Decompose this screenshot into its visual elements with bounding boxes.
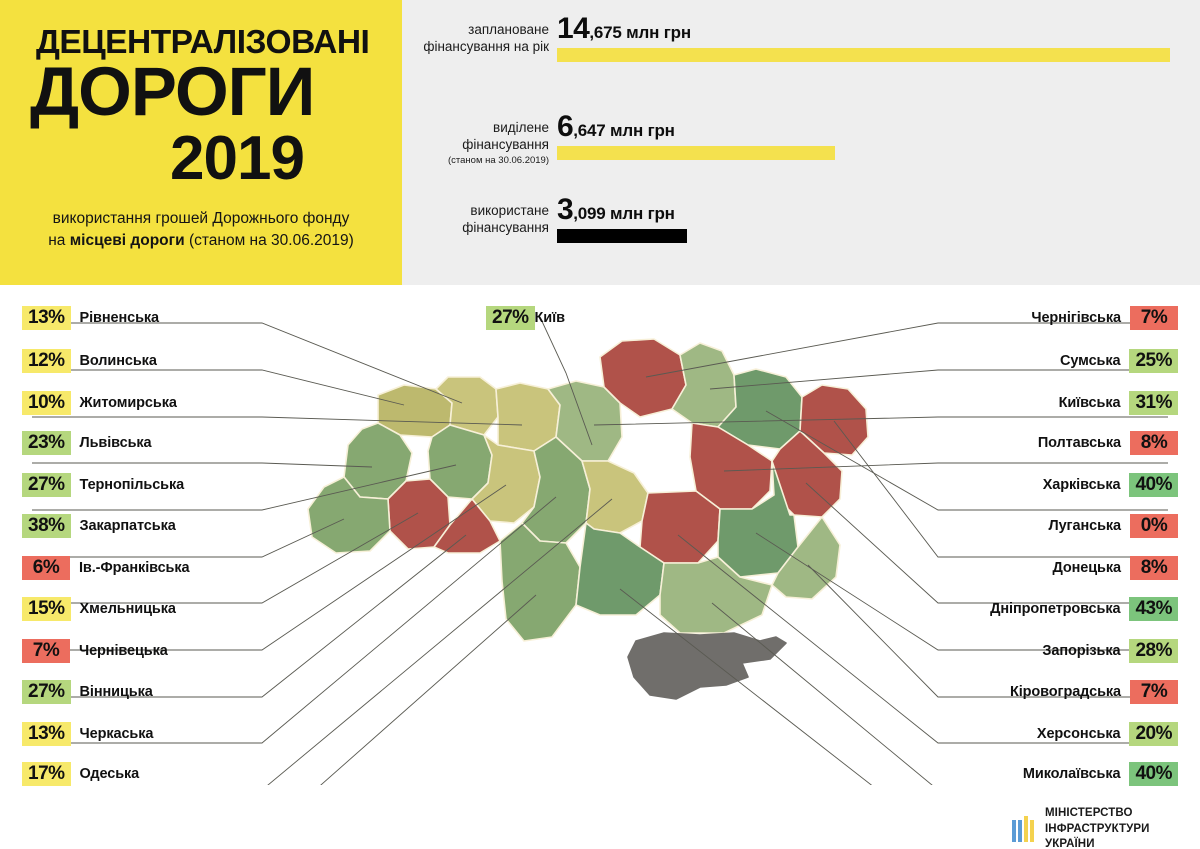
bar-rect-allocated: [557, 146, 835, 160]
title-panel: ДЕЦЕНТРАЛІЗОВАНІ ДОРОГИ 2019 використанн…: [0, 0, 402, 285]
subtitle-prefix: на: [48, 232, 70, 249]
region-label-left[interactable]: 7% Чернівецька: [22, 639, 168, 663]
region-percent-badge: 8%: [1130, 556, 1178, 580]
region-name: Херсонська: [1037, 726, 1121, 742]
logo-bar-3: [1024, 816, 1028, 842]
bar-group-used: використане фінансування 3,099 млн грн: [402, 190, 1200, 285]
bar-group-planned: заплановане фінансування на рік 14,675 м…: [402, 0, 1200, 95]
logo-bar-4: [1030, 820, 1034, 842]
bar-label-used-line2: фінансування: [462, 220, 549, 235]
logo-bar-1: [1012, 820, 1016, 842]
region-label-left[interactable]: 17% Одеська: [22, 762, 139, 786]
region-name: Київ: [535, 310, 565, 326]
region-name: Донецька: [1052, 560, 1121, 576]
bar-label-allocated-line2: фінансування: [462, 137, 549, 152]
ministry-logo-text: МІНІСТЕРСТВО ІНФРАСТРУКТУРИ УКРАЇНИ: [1045, 806, 1200, 849]
subtitle-line-1: використання грошей Дорожнього фонду: [53, 210, 350, 227]
region-label-right[interactable]: 7% Кіровоградська: [1010, 680, 1178, 704]
region-label-left[interactable]: 13% Черкаська: [22, 722, 153, 746]
leader-line-kyivska-obl: [594, 417, 1168, 425]
region-name: Львівська: [80, 435, 152, 451]
bar-label-allocated-note: (станом на 30.06.2019): [448, 154, 549, 167]
bar-value-allocated: 6,647 млн грн: [557, 110, 675, 144]
header: ДЕЦЕНТРАЛІЗОВАНІ ДОРОГИ 2019 використанн…: [0, 0, 1200, 285]
region-name: Рівненська: [80, 310, 160, 326]
bar-rect-used: [557, 229, 687, 243]
region-label-right[interactable]: 28% Запорізька: [1042, 639, 1178, 663]
bar-rect-planned: [557, 48, 1170, 62]
region-percent-badge: 27%: [22, 473, 71, 497]
logo-bars-icon: [1012, 816, 1036, 842]
page-title-year: 2019: [170, 128, 304, 190]
region-name: Житомирська: [80, 395, 177, 411]
region-label-left[interactable]: 13% Рівненська: [22, 306, 159, 330]
region-percent-badge: 7%: [22, 639, 70, 663]
region-percent-badge: 12%: [22, 349, 71, 373]
region-label-right[interactable]: 43% Дніпропетровська: [990, 597, 1178, 621]
region-label-right[interactable]: 31% Київська: [1059, 391, 1178, 415]
region-crimea: [628, 633, 786, 699]
bar-label-allocated-line1: виділене: [493, 120, 549, 135]
bar-label-allocated: виділене фінансування (станом на 30.06.2…: [448, 120, 549, 167]
page-subtitle: використання грошей Дорожнього фонду на …: [0, 208, 402, 253]
region-label-right[interactable]: 0% Луганська: [1049, 514, 1179, 538]
bar-value-used: 3,099 млн грн: [557, 193, 675, 227]
bar-value-used-big: 3: [557, 193, 573, 226]
region-percent-badge: 0%: [1130, 514, 1178, 538]
logo-text-line-1: МІНІСТЕРСТВО: [1045, 806, 1200, 822]
region-name: Вінницька: [80, 684, 153, 700]
region-name: Тернопільська: [80, 477, 185, 493]
region-percent-badge: 43%: [1129, 597, 1178, 621]
region-cherkaska: [582, 461, 648, 533]
bar-group-allocated: виділене фінансування (станом на 30.06.2…: [402, 95, 1200, 190]
region-name: Хмельницька: [80, 601, 176, 617]
region-name: Сумська: [1060, 353, 1120, 369]
region-name: Кіровоградська: [1010, 684, 1121, 700]
region-percent-badge: 13%: [22, 306, 71, 330]
region-percent-badge: 40%: [1129, 762, 1178, 786]
region-name: Одеська: [80, 766, 140, 782]
region-label-right[interactable]: 8% Полтавська: [1038, 431, 1178, 455]
bar-value-allocated-rest: ,647 млн грн: [573, 121, 675, 140]
region-name: Ів.-Франківська: [79, 560, 190, 576]
region-percent-badge: 25%: [1129, 349, 1178, 373]
region-percent-badge: 13%: [22, 722, 71, 746]
bar-value-planned-big: 14: [557, 12, 589, 45]
region-percent-badge: 15%: [22, 597, 71, 621]
region-name: Київська: [1059, 395, 1121, 411]
region-percent-badge: 10%: [22, 391, 71, 415]
region-name: Чернівецька: [79, 643, 168, 659]
leader-line-zaporizka: [808, 565, 1168, 697]
region-name: Миколаївська: [1023, 766, 1121, 782]
region-label-left[interactable]: 23% Львівська: [22, 431, 152, 455]
region-label-left[interactable]: 38% Закарпатська: [22, 514, 176, 538]
region-label-right[interactable]: 40% Миколаївська: [1023, 762, 1178, 786]
region-percent-badge: 6%: [22, 556, 70, 580]
page-title-line-2: ДОРОГИ: [30, 57, 314, 126]
region-percent-badge: 8%: [1130, 431, 1178, 455]
region-label-left[interactable]: 12% Волинська: [22, 349, 157, 373]
region-percent-badge: 28%: [1129, 639, 1178, 663]
region-label-left[interactable]: 27% Тернопільська: [22, 473, 184, 497]
ministry-logo: МІНІСТЕРСТВО ІНФРАСТРУКТУРИ УКРАЇНИ: [1012, 806, 1200, 849]
region-name: Луганська: [1049, 518, 1122, 534]
region-name: Чернігівська: [1031, 310, 1121, 326]
region-percent-badge: 27%: [486, 306, 535, 330]
region-name: Полтавська: [1038, 435, 1121, 451]
region-label-right[interactable]: 8% Донецька: [1052, 556, 1178, 580]
region-name: Волинська: [80, 353, 157, 369]
leader-line-lvivska: [32, 463, 372, 467]
bar-label-planned: заплановане фінансування на рік: [423, 22, 549, 56]
region-name: Дніпропетровська: [990, 601, 1120, 617]
subtitle-suffix: (станом на 30.06.2019): [185, 232, 354, 249]
region-percent-badge: 17%: [22, 762, 71, 786]
region-percent-badge: 38%: [22, 514, 71, 538]
region-percent-badge: 27%: [22, 680, 71, 704]
funding-bar-chart: заплановане фінансування на рік 14,675 м…: [402, 0, 1200, 285]
bar-value-allocated-big: 6: [557, 110, 573, 143]
region-name: Запорізька: [1042, 643, 1120, 659]
region-percent-badge: 7%: [1130, 680, 1178, 704]
region-name: Черкаська: [80, 726, 154, 742]
bar-label-planned-line1: заплановане: [468, 22, 549, 37]
region-label-right[interactable]: 20% Херсонська: [1037, 722, 1178, 746]
bar-value-planned: 14,675 млн грн: [557, 12, 691, 46]
ukraine-map: [0, 285, 1200, 785]
region-label-left[interactable]: 27% Вінницька: [22, 680, 153, 704]
region-kirovohradska: [640, 491, 720, 563]
bar-value-planned-rest: ,675 млн грн: [589, 23, 691, 42]
bar-label-used: використане фінансування: [462, 203, 549, 237]
region-label-kyiv-city[interactable]: 27% Київ: [486, 306, 565, 330]
region-label-left[interactable]: 10% Житомирська: [22, 391, 177, 415]
leader-line-donetska: [806, 483, 1168, 603]
infographic-page: ДЕЦЕНТРАЛІЗОВАНІ ДОРОГИ 2019 використанн…: [0, 0, 1200, 849]
bar-label-used-line1: використане: [470, 203, 549, 218]
region-label-right[interactable]: 40% Харківська: [1043, 473, 1178, 497]
region-percent-badge: 40%: [1129, 473, 1178, 497]
region-label-left[interactable]: 15% Хмельницька: [22, 597, 176, 621]
subtitle-highlight: місцеві дороги: [70, 232, 185, 249]
region-label-right[interactable]: 7% Чернігівська: [1031, 306, 1178, 330]
logo-text-line-2: ІНФРАСТРУКТУРИ УКРАЇНИ: [1045, 822, 1200, 849]
bar-label-planned-line2: фінансування на рік: [423, 39, 549, 54]
region-percent-badge: 7%: [1130, 306, 1178, 330]
region-percent-badge: 31%: [1129, 391, 1178, 415]
region-percent-badge: 20%: [1129, 722, 1178, 746]
region-name: Харківська: [1043, 477, 1121, 493]
region-label-left[interactable]: 6% Ів.-Франківська: [22, 556, 190, 580]
region-name: Закарпатська: [80, 518, 176, 534]
region-label-right[interactable]: 25% Сумська: [1060, 349, 1178, 373]
region-percent-badge: 23%: [22, 431, 71, 455]
logo-bar-2: [1018, 820, 1022, 842]
bar-value-used-rest: ,099 млн грн: [573, 204, 675, 223]
